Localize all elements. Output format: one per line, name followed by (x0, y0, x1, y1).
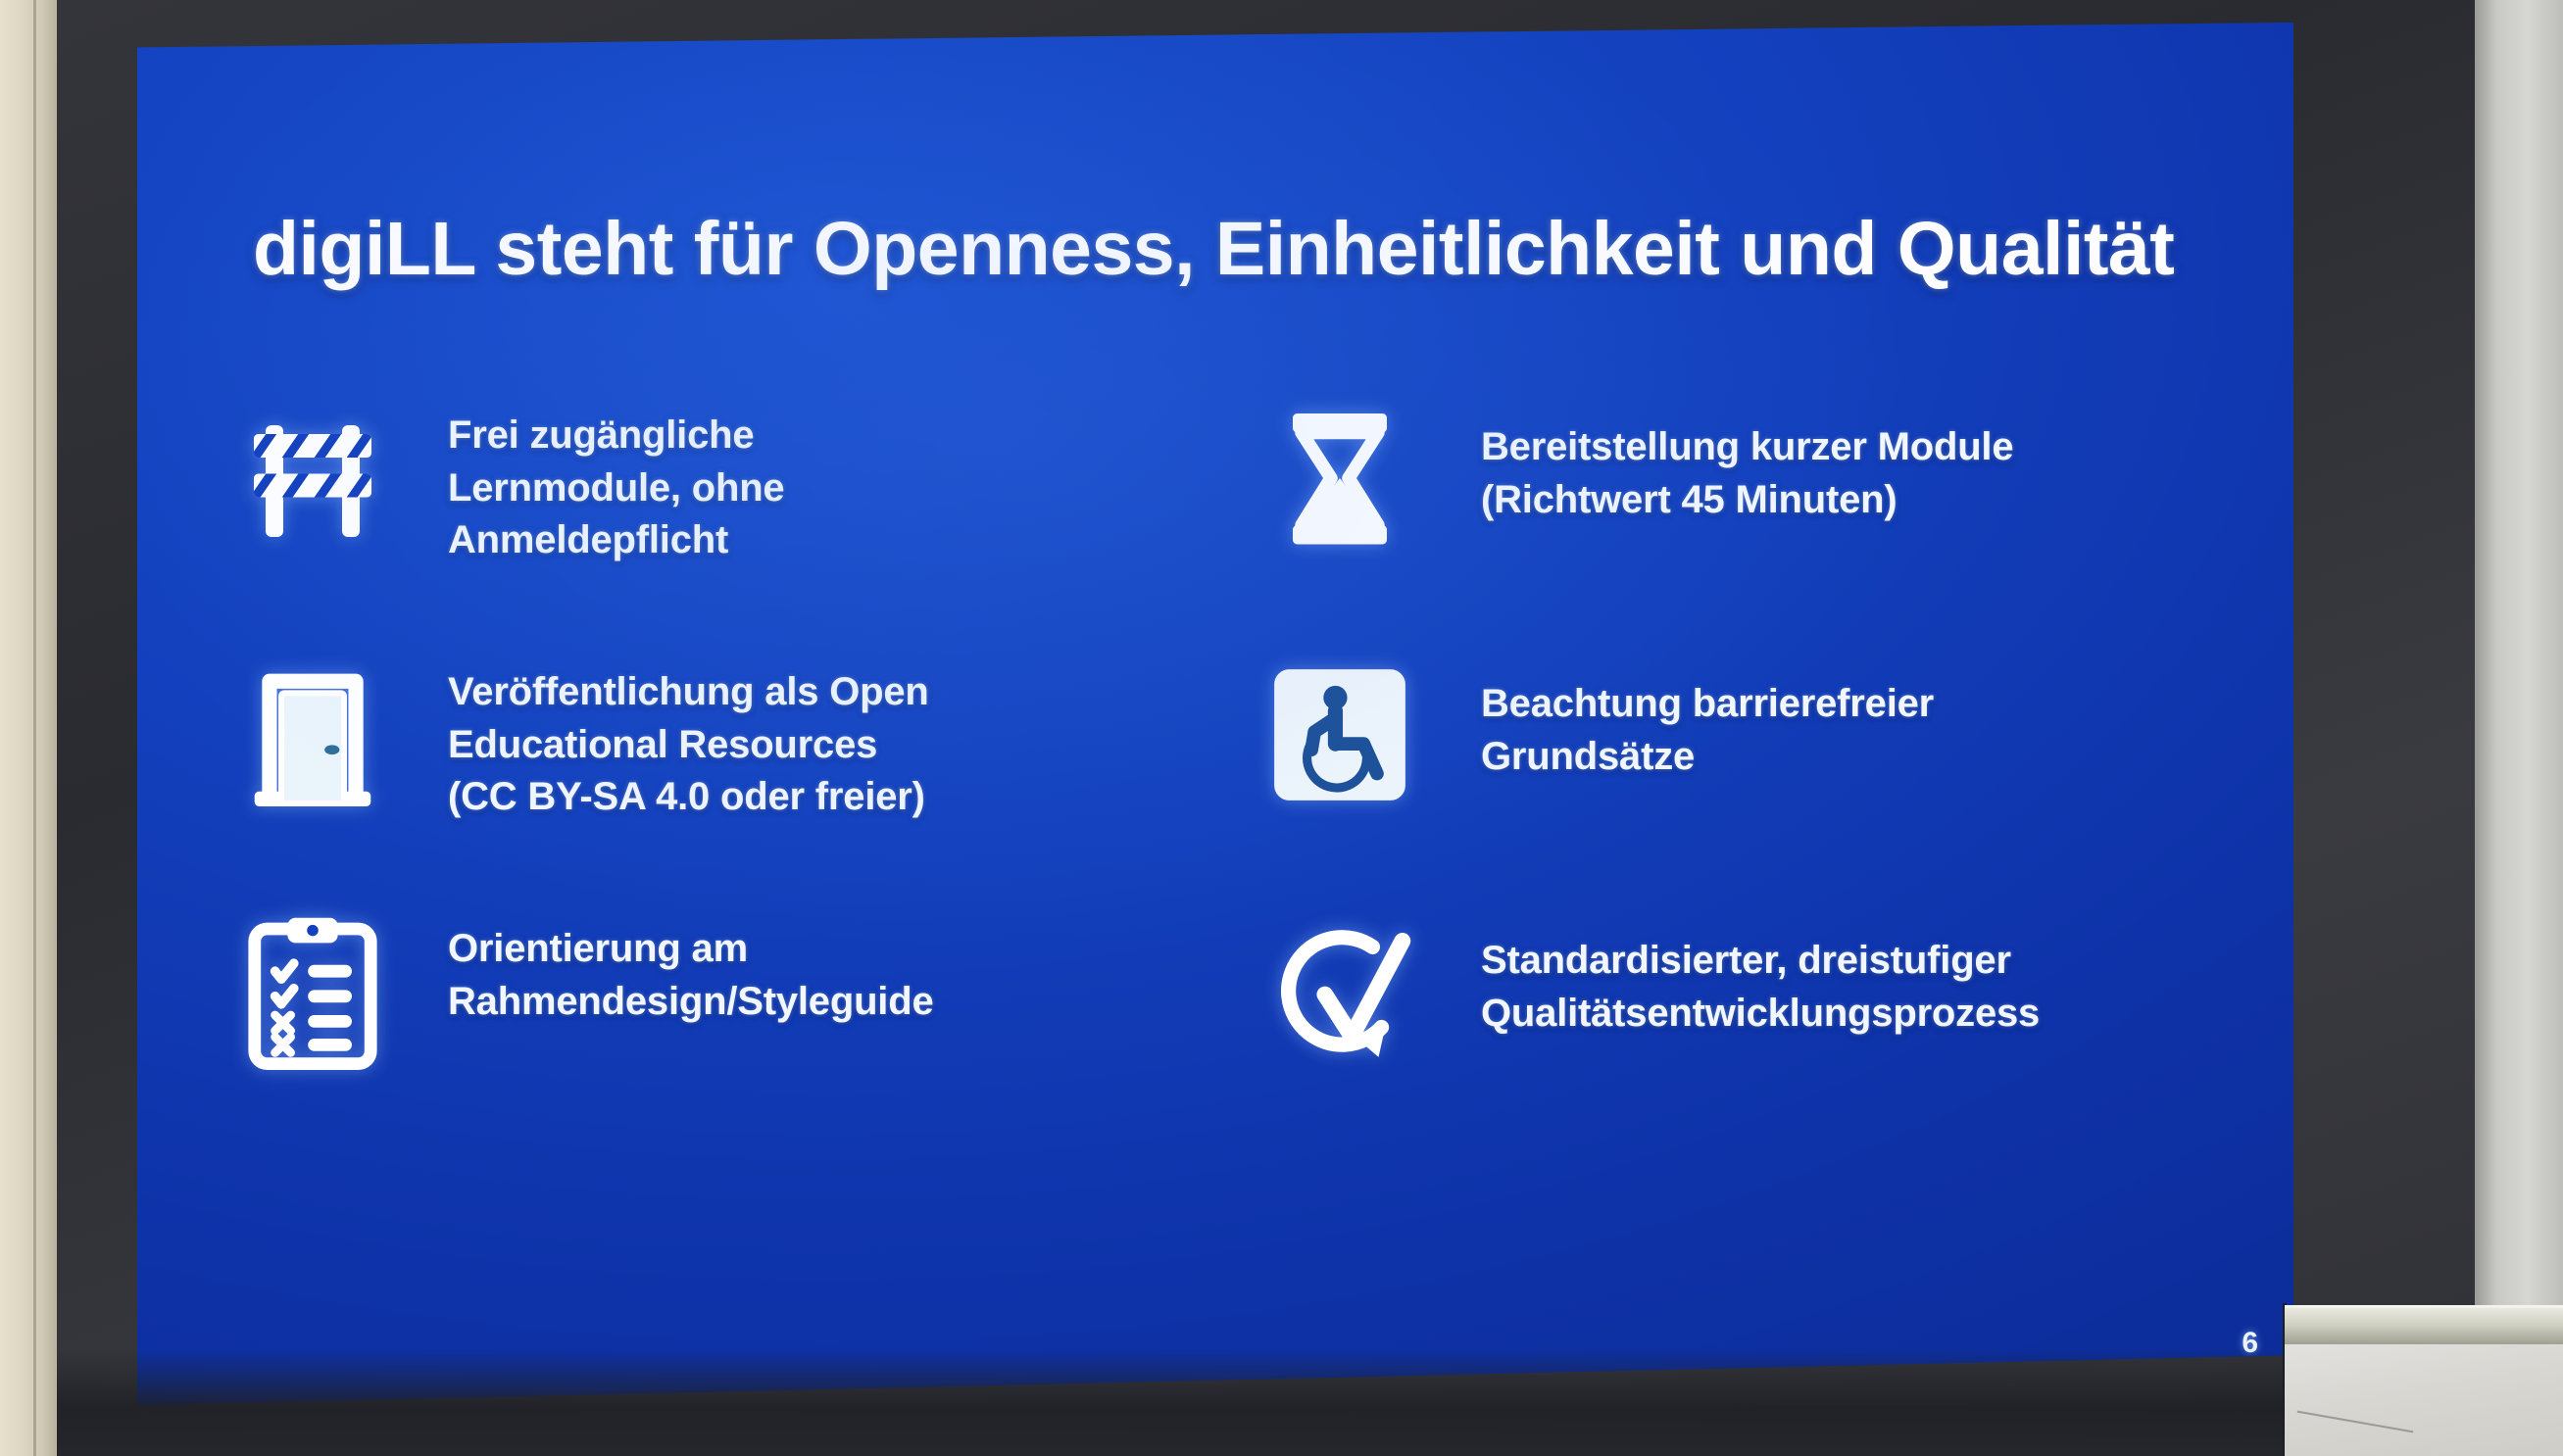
flipchart-paper (2285, 1344, 2563, 1456)
feature-line: Qualitätsentwicklungsprozess (1481, 988, 2040, 1041)
feature-item-styleguide: Orientierung am Rahmendesign/Styleguide (230, 905, 1189, 1162)
feature-text: Beachtung barrierefreier Grundsätze (1481, 649, 1934, 783)
wall-right (2475, 0, 2563, 1456)
wall-seam (33, 0, 36, 1456)
wall-pillar-left (0, 0, 57, 1456)
feature-line: Bereitstellung kurzer Module (1481, 421, 2013, 474)
feature-item-frei-zugaengliche: Frei zugängliche Lernmodule, ohne Anmeld… (230, 392, 1189, 649)
feature-text: Veröffentlichung als Open Educational Re… (448, 649, 929, 824)
feature-item-kurze-module: Bereitstellung kurzer Module (Richtwert … (1252, 392, 2210, 649)
road-barrier-icon (230, 392, 395, 563)
flipchart-corner-foreground (2279, 1299, 2563, 1456)
feature-line: Standardisierter, dreistufiger (1481, 935, 2040, 988)
projected-slide: digiLL steht für Openness, Einheitlichke… (137, 20, 2293, 1411)
feature-item-barrierefreiheit: Beachtung barrierefreier Grundsätze (1252, 649, 2210, 905)
feature-text: Frei zugängliche Lernmodule, ohne Anmeld… (448, 392, 784, 567)
feature-line: Educational Resources (448, 719, 929, 772)
feature-line: Orientierung am (448, 923, 934, 976)
feature-item-oer: Veröffentlichung als Open Educational Re… (230, 649, 1189, 905)
feature-line: Rahmendesign/Styleguide (448, 976, 934, 1029)
cycle-checkmark-icon (1252, 905, 1428, 1077)
feature-item-qualitaetsprozess: Standardisierter, dreistufiger Qualitäts… (1252, 905, 2210, 1162)
clipboard-checklist-icon (230, 905, 395, 1077)
feature-grid: Frei zugängliche Lernmodule, ohne Anmeld… (230, 392, 2210, 1162)
screen-lower-shadow (57, 1348, 2475, 1456)
paper-crease (2297, 1411, 2414, 1433)
open-door-icon (230, 649, 395, 820)
feature-line: Veröffentlichung als Open (448, 666, 929, 719)
feature-line: (Richtwert 45 Minuten) (1481, 474, 2013, 527)
flipchart-rail (2285, 1305, 2563, 1346)
feature-line: Lernmodule, ohne (448, 462, 784, 515)
wheelchair-accessibility-icon (1252, 649, 1428, 820)
feature-text: Orientierung am Rahmendesign/Styleguide (448, 905, 934, 1028)
presentation-room-photo: digiLL steht für Openness, Einheitlichke… (0, 0, 2563, 1456)
feature-line: Grundsätze (1481, 731, 1934, 784)
feature-line: (CC BY-SA 4.0 oder freier) (448, 771, 929, 824)
hourglass-icon (1252, 392, 1428, 563)
feature-text: Standardisierter, dreistufiger Qualitäts… (1481, 905, 2040, 1040)
feature-line: Frei zugängliche (448, 410, 784, 462)
feature-text: Bereitstellung kurzer Module (Richtwert … (1481, 392, 2013, 526)
slide-title: digiLL steht für Openness, Einheitlichke… (253, 212, 2213, 287)
feature-line: Beachtung barrierefreier (1481, 678, 1934, 731)
feature-line: Anmeldepflicht (448, 514, 784, 567)
